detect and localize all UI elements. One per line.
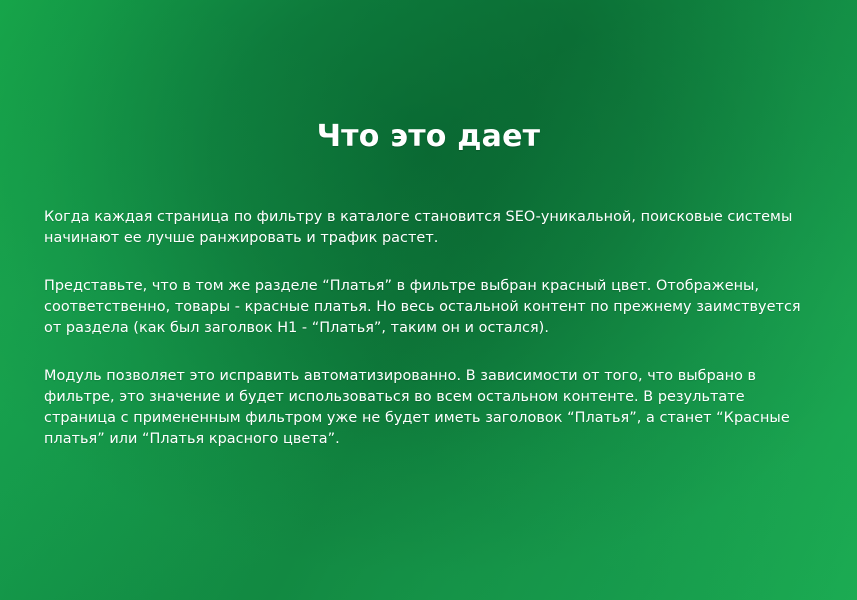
slide-body: Когда каждая страница по фильтру в катал…: [44, 207, 822, 450]
body-paragraph-2: Представьте, что в том же разделе “Плать…: [44, 276, 804, 339]
body-paragraph-3: Модуль позволяет это исправить автоматиз…: [44, 366, 792, 450]
slide-title: Что это дает: [0, 119, 857, 155]
presentation-slide: Что это дает Когда каждая страница по фи…: [0, 0, 857, 600]
body-paragraph-1: Когда каждая страница по фильтру в катал…: [44, 207, 822, 249]
